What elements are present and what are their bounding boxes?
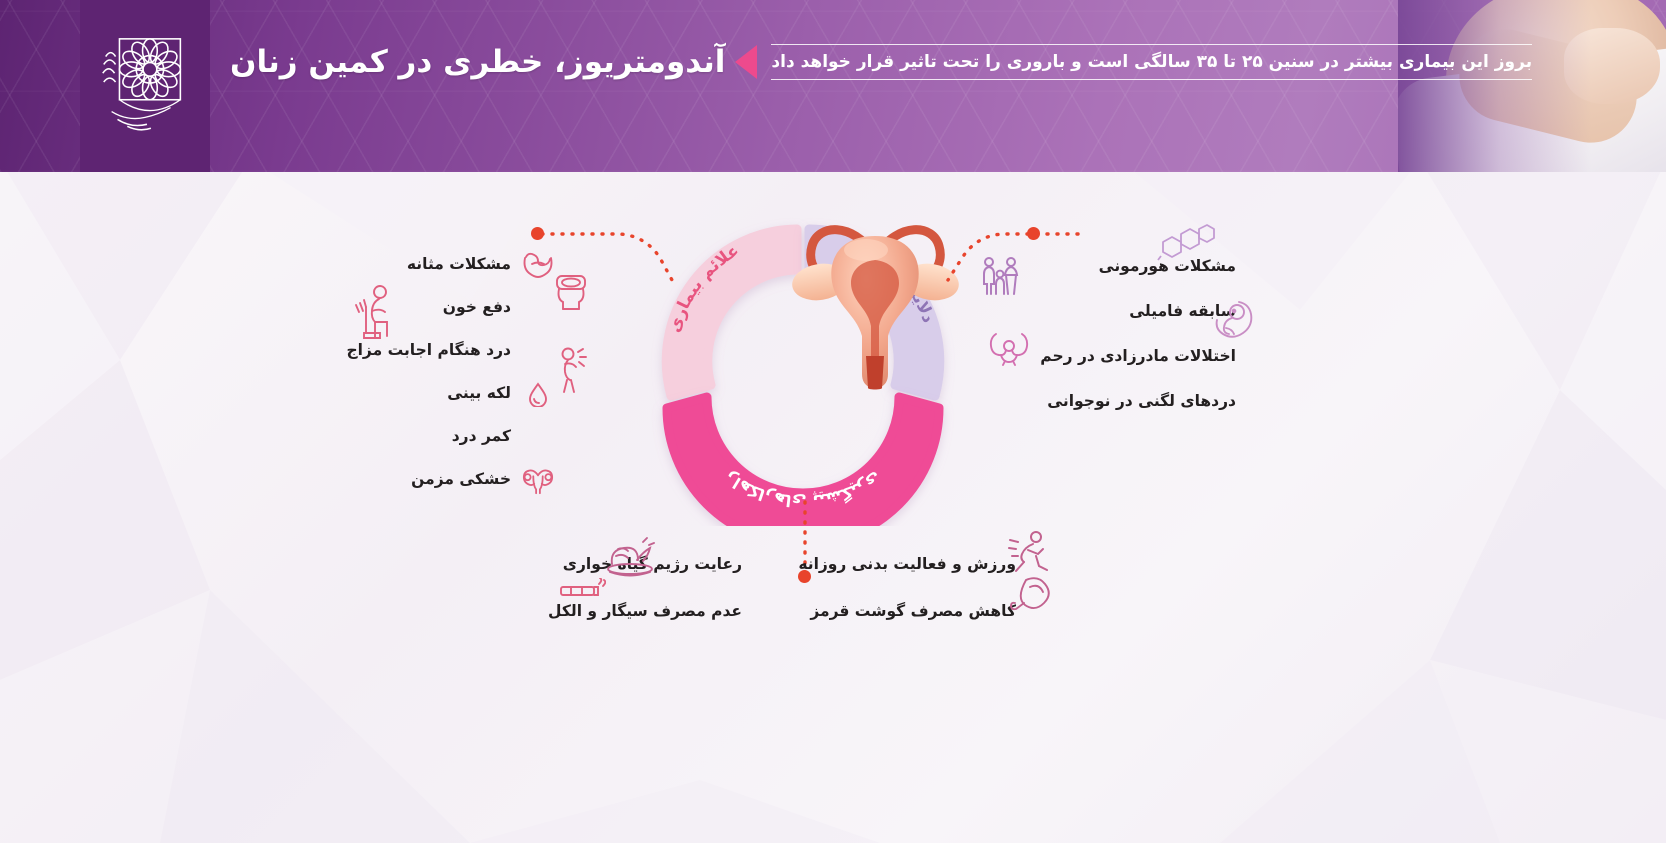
bladder-icon bbox=[521, 248, 555, 282]
meat-icon bbox=[1008, 574, 1052, 614]
header-subtitle-wrap: بروز این بیماری بیشتر در سنین ۲۵ تا ۳۵ س… bbox=[771, 44, 1532, 80]
university-logo-panel bbox=[80, 0, 210, 172]
list-item-label: لکه بینی bbox=[447, 386, 511, 402]
running-person-icon bbox=[1006, 530, 1054, 576]
triangle-arrow-icon bbox=[735, 45, 757, 79]
vegetables-icon bbox=[604, 536, 656, 582]
causes-list: مشکلات هورمونی سابقه فامیلی اختلالات ماد… bbox=[1030, 250, 1280, 430]
list-item-label: اختلالات مادرزادی در رحم bbox=[1040, 349, 1236, 365]
header-photo bbox=[1398, 0, 1666, 172]
list-item-label: کمر درد bbox=[452, 429, 511, 445]
page-header: بروز این بیماری بیشتر در سنین ۲۵ تا ۳۵ س… bbox=[0, 0, 1666, 172]
list-item-label: مشکلات مثانه bbox=[407, 257, 511, 273]
list-item[interactable]: خشکی مزمن bbox=[325, 463, 555, 497]
person-on-toilet-icon bbox=[352, 281, 398, 351]
list-item-label: ورزش و فعالیت بدنی روزانه bbox=[798, 557, 1016, 573]
list-item-label: کاهش مصرف گوشت قرمز bbox=[810, 604, 1016, 620]
toilet-icon bbox=[551, 273, 591, 315]
pelvis-icon bbox=[988, 330, 1030, 366]
list-item-label: خشکی مزمن bbox=[411, 472, 511, 488]
list-item[interactable]: رعایت رژیم گیاه خواری bbox=[551, 548, 786, 582]
list-item[interactable]: لکه بینی bbox=[325, 377, 555, 411]
fetus-icon bbox=[1213, 298, 1255, 338]
header-subtitle: بروز این بیماری بیشتر در سنین ۲۵ تا ۳۵ س… bbox=[771, 44, 1532, 80]
list-item[interactable]: مشکلات هورمونی bbox=[1030, 250, 1280, 284]
hormone-molecule-icon bbox=[1157, 222, 1215, 270]
infographic-page: بروز این بیماری بیشتر در سنین ۲۵ تا ۳۵ س… bbox=[0, 0, 1666, 843]
back-pain-icon bbox=[556, 346, 590, 394]
list-item[interactable]: اختلالات مادرزادی در رحم bbox=[1030, 340, 1280, 374]
uterus-outline-icon bbox=[521, 463, 555, 497]
university-logo-icon bbox=[97, 31, 193, 141]
connector-dot-symptoms bbox=[531, 227, 544, 240]
list-item-label: دفع خون bbox=[443, 300, 511, 316]
header-title-block: بروز این بیماری بیشتر در سنین ۲۵ تا ۳۵ س… bbox=[230, 44, 1398, 80]
connector-dot-causes bbox=[1027, 227, 1040, 240]
blood-drop-icon bbox=[521, 377, 555, 411]
list-item[interactable]: کمر درد bbox=[325, 420, 555, 454]
list-item[interactable]: مشکلات مثانه bbox=[325, 248, 555, 282]
list-item[interactable]: دردهای لگنی در نوجوانی bbox=[1030, 385, 1280, 419]
list-item-label: عدم مصرف سیگار و الکل bbox=[548, 604, 742, 620]
page-title: آندومتریوز، خطری در کمین زنان bbox=[230, 44, 725, 80]
family-icon bbox=[980, 256, 1020, 296]
list-item-label: دردهای لگنی در نوجوانی bbox=[1047, 394, 1236, 410]
no-smoking-icon bbox=[558, 578, 606, 602]
